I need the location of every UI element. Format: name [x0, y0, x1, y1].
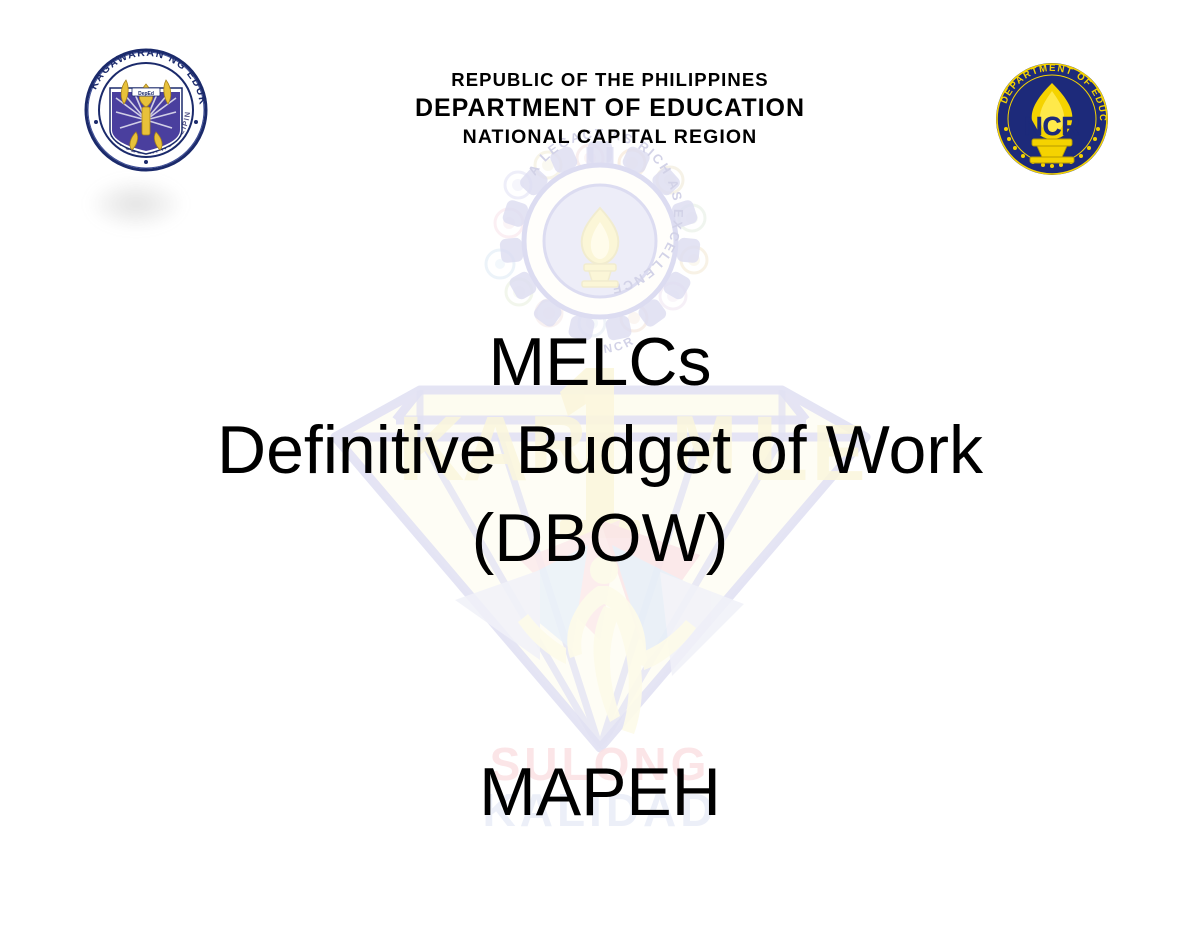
- header-line-department: DEPARTMENT OF EDUCATION: [300, 92, 920, 124]
- scan-smudge-artifact: [88, 178, 184, 230]
- deped-seal-icon: KAGAWARAN NG EDUKASYON REPUBLIKA NG PILI…: [80, 44, 212, 176]
- slide-title-block: MELCs Definitive Budget of Work (DBOW): [0, 318, 1200, 582]
- subject-title-mapeh: MAPEH: [0, 748, 1200, 836]
- deped-ncr-seal-icon: DEPARTMENT OF EDUCATION NCR: [990, 57, 1114, 181]
- title-line-dbow-acronym: (DBOW): [0, 494, 1200, 582]
- header-line-region: NATIONAL CAPITAL REGION: [300, 124, 920, 150]
- svg-text:A LEGACY AS RICH AS EXCELLENCE: A LEGACY AS RICH AS EXCELLENCE: [525, 126, 686, 297]
- title-line-dbow-full: Definitive Budget of Work: [0, 406, 1200, 494]
- header-text-block: REPUBLIC OF THE PHILIPPINES DEPARTMENT O…: [300, 68, 920, 150]
- svg-text:DepEd: DepEd: [138, 91, 154, 97]
- header-line-republic: REPUBLIC OF THE PHILIPPINES: [300, 68, 920, 92]
- title-line-melcs: MELCs: [0, 318, 1200, 406]
- presentation-slide: A LEGACY AS RICH AS EXCELLENCE NCR: [0, 0, 1200, 927]
- svg-text:NCR: NCR: [1024, 111, 1081, 141]
